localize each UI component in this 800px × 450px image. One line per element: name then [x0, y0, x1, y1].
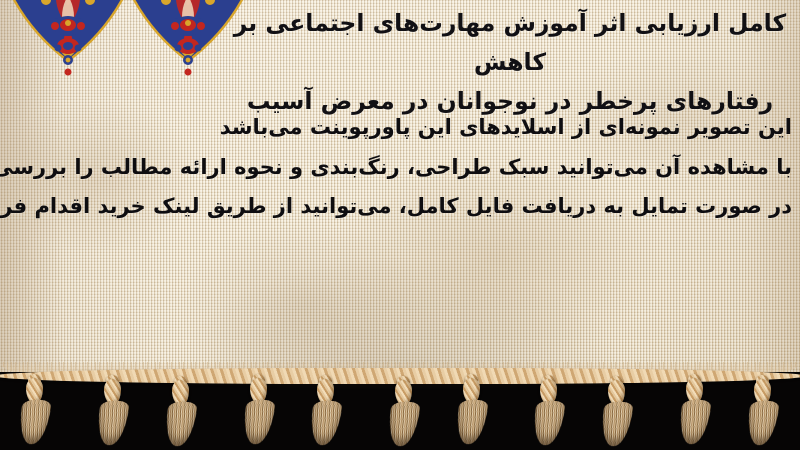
black-lower-band [0, 372, 800, 450]
slide-body: این تصویر نمونه‌ای از اسلایدهای این پاور… [8, 108, 792, 227]
ornament-pendant-drop-icon [48, 14, 88, 82]
presentation-slide: کامل ارزیابی اثر آموزش مهارت‌های اجتماعی… [0, 0, 800, 450]
slide-title-line-1: کامل ارزیابی اثر آموزش مهارت‌های اجتماعی… [230, 4, 790, 82]
body-line-1: این تصویر نمونه‌ای از اسلایدهای این پاور… [8, 108, 792, 148]
body-line-2: با مشاهده آن می‌توانید سبک طراحی، رنگ‌بن… [8, 148, 792, 188]
ornament-pendant-drop-icon [168, 14, 208, 82]
ornament-left-group [8, 0, 128, 90]
body-line-3: در صورت تمایل به دریافت فایل کامل، می‌تو… [8, 187, 792, 227]
slide-title: کامل ارزیابی اثر آموزش مهارت‌های اجتماعی… [230, 4, 790, 121]
